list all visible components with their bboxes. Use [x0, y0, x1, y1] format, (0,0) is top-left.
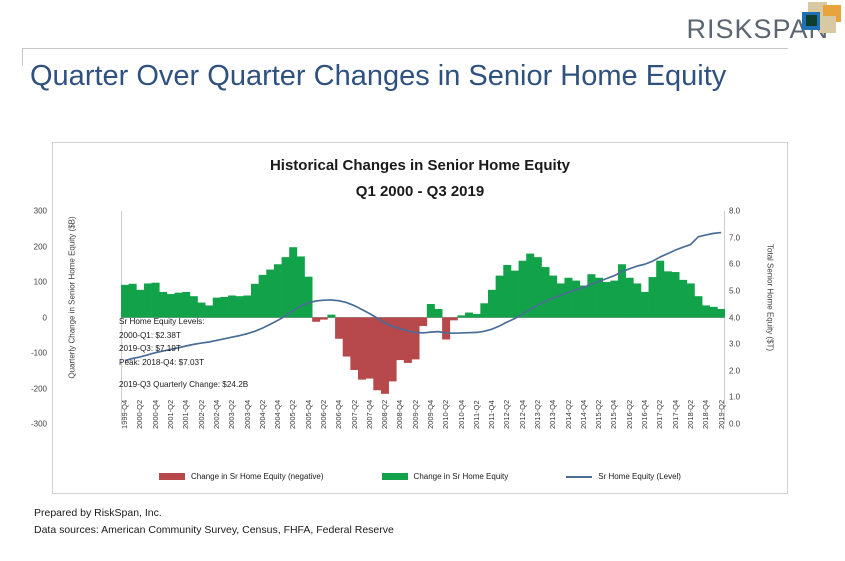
x-axis-tick: 2012-Q4: [518, 400, 527, 429]
x-axis-tick: 2009-Q4: [426, 400, 435, 429]
legend-label: Sr Home Equity (Level): [598, 472, 681, 481]
x-axis-tick: 2008-Q4: [395, 400, 404, 429]
page-header: RISKSPAN Quarter Over Quarter Changes in…: [0, 0, 845, 120]
y-axis-right-tick: 8.0: [729, 207, 763, 216]
x-axis-tick: 2014-Q4: [579, 400, 588, 429]
y-axis-left-tick: 0: [13, 313, 47, 322]
chart-legend: Change in Sr Home Equity (negative)Chang…: [53, 472, 787, 481]
page-title: Quarter Over Quarter Changes in Senior H…: [30, 60, 820, 105]
y-axis-right-tick: 2.0: [729, 366, 763, 375]
legend-label: Change in Sr Home Equity (negative): [191, 472, 324, 481]
annotation-line-2: 2019-Q3: $7.19T: [119, 342, 248, 356]
y-axis-right-tick: 3.0: [729, 340, 763, 349]
x-axis-tick: 2010-Q4: [457, 400, 466, 429]
x-axis-tick: 2016-Q4: [640, 400, 649, 429]
y-axis-right-title: Total Senior Home Equity ($T): [766, 183, 775, 413]
x-axis-tick: 2016-Q2: [625, 400, 634, 429]
annotation-line-1: 2000-Q1: $2.38T: [119, 329, 248, 343]
y-axis-left-tick: 300: [13, 207, 47, 216]
x-axis-tick: 2006-Q2: [319, 400, 328, 429]
footer-data-sources: Data sources: American Community Survey,…: [34, 522, 394, 539]
x-axis-tick: 2002-Q2: [197, 400, 206, 429]
x-axis-tick: 2008-Q2: [380, 400, 389, 429]
chart-title: Historical Changes in Senior Home Equity: [53, 157, 787, 174]
y-axis-left-tick: -100: [13, 349, 47, 358]
y-axis-left-tick: 100: [13, 278, 47, 287]
legend-label: Change in Sr Home Equity: [414, 472, 509, 481]
x-axis-tick: 2007-Q2: [350, 400, 359, 429]
chart-container: Historical Changes in Senior Home Equity…: [52, 142, 788, 494]
x-axis-tick: 2019-Q2: [717, 400, 726, 429]
y-axis-left-tick: -300: [13, 420, 47, 429]
x-axis-tick: 2007-Q4: [365, 400, 374, 429]
legend-swatch-bar: [159, 473, 185, 480]
x-axis-tick: 2009-Q2: [411, 400, 420, 429]
annotation-heading: Sr Home Equity Levels:: [119, 315, 248, 329]
x-axis-tick: 2017-Q4: [671, 400, 680, 429]
y-axis-right-tick: 4.0: [729, 313, 763, 322]
x-axis-tick: 2015-Q4: [609, 400, 618, 429]
footer: Prepared by RiskSpan, Inc. Data sources:…: [34, 505, 394, 539]
y-axis-right-tick: 5.0: [729, 286, 763, 295]
legend-swatch-bar: [382, 473, 408, 480]
x-axis-tick: 2011-Q2: [472, 400, 481, 429]
x-axis-tick: 2004-Q2: [258, 400, 267, 429]
x-axis-tick: 2015-Q2: [594, 400, 603, 429]
y-axis-left-tick: 200: [13, 242, 47, 251]
riskspan-squares-logo-icon: [797, 2, 843, 42]
annotation-line-4: 2019-Q3 Quarterly Change: $24.2B: [119, 378, 248, 392]
x-axis-tick: 2002-Q4: [212, 400, 221, 429]
legend-item: Change in Sr Home Equity (negative): [159, 472, 324, 481]
legend-swatch-line: [566, 476, 592, 478]
x-axis-tick: 2000-Q2: [135, 400, 144, 429]
y-axis-right-tick: 0.0: [729, 420, 763, 429]
annotation-spacer: [119, 369, 248, 378]
x-axis-tick: 2011-Q4: [487, 400, 496, 429]
x-axis-tick: 2004-Q4: [273, 400, 282, 429]
y-axis-right-tick: 1.0: [729, 393, 763, 402]
x-axis-tick: 2006-Q4: [334, 400, 343, 429]
y-axis-left-title: Quarterly Change in Senior Home Equity (…: [68, 183, 77, 413]
header-left-tick: [22, 48, 23, 66]
legend-item: Sr Home Equity (Level): [566, 472, 681, 481]
x-axis-tick: 2005-Q2: [288, 400, 297, 429]
x-axis-tick: 2005-Q4: [304, 400, 313, 429]
annotation-line-3: Peak: 2018-Q4: $7.03T: [119, 356, 248, 370]
x-axis-tick: 1999-Q4: [120, 400, 129, 429]
y-axis-right-tick: 6.0: [729, 260, 763, 269]
y-axis-left-tick: -200: [13, 384, 47, 393]
legend-item: Change in Sr Home Equity: [382, 472, 509, 481]
x-axis-tick: 2013-Q4: [548, 400, 557, 429]
x-axis-tick: 2018-Q2: [686, 400, 695, 429]
chart-subtitle: Q1 2000 - Q3 2019: [53, 183, 787, 200]
x-axis-tick: 2010-Q2: [441, 400, 450, 429]
y-axis-right-tick: 7.0: [729, 233, 763, 242]
header-divider: [22, 48, 788, 49]
x-axis-tick: 2017-Q2: [655, 400, 664, 429]
x-axis-tick: 2018-Q4: [701, 400, 710, 429]
x-axis-tick: 2001-Q4: [181, 400, 190, 429]
x-axis-tick: 2001-Q2: [166, 400, 175, 429]
footer-prepared-by: Prepared by RiskSpan, Inc.: [34, 505, 394, 522]
x-axis-tick: 2003-Q4: [243, 400, 252, 429]
x-axis-tick: 2003-Q2: [227, 400, 236, 429]
x-axis-tick: 2013-Q2: [533, 400, 542, 429]
x-axis-tick: 2012-Q2: [502, 400, 511, 429]
annotation-block: Sr Home Equity Levels: 2000-Q1: $2.38T 2…: [119, 315, 248, 392]
x-axis-tick: 2014-Q2: [564, 400, 573, 429]
x-axis-tick: 2000-Q4: [151, 400, 160, 429]
